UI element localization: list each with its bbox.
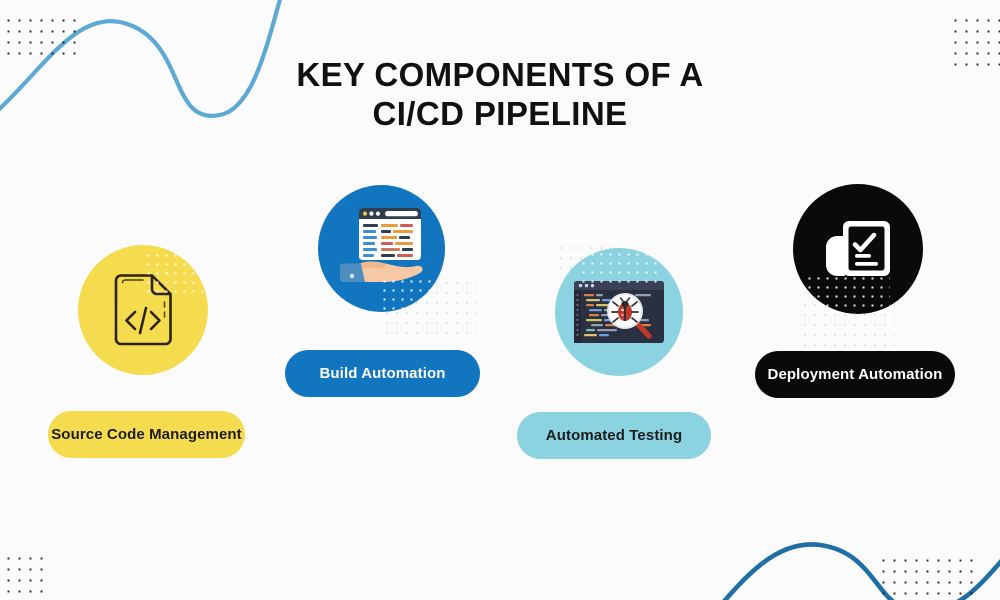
build-automation-pill[interactable]: Build Automation xyxy=(285,350,480,397)
page-title-line-2: CI/CD PIPELINE xyxy=(0,94,1000,133)
source-code-management-circle[interactable] xyxy=(78,245,208,375)
circle-dot-texture xyxy=(380,277,445,312)
circle-dot-texture xyxy=(579,250,659,288)
infographic-canvas: KEY COMPONENTS OF A CI/CD PIPELINE Sourc… xyxy=(0,0,1000,600)
deployment-automation-pill[interactable]: Deployment Automation xyxy=(755,351,955,398)
source-code-management-pill[interactable]: Source Code Management xyxy=(48,411,245,458)
dot-grid-top-left xyxy=(3,15,81,60)
dot-grid-bottom-left xyxy=(3,553,48,598)
deployment-automation-circle[interactable] xyxy=(793,184,923,314)
build-automation-label: Build Automation xyxy=(319,365,445,382)
circle-dot-texture xyxy=(144,251,208,293)
bug-magnifier-code-editor-icon xyxy=(573,280,665,344)
circle-dot-texture xyxy=(805,274,890,314)
page-title-line-1: KEY COMPONENTS OF A xyxy=(0,55,1000,94)
automated-testing-pill[interactable]: Automated Testing xyxy=(517,412,711,459)
page-title: KEY COMPONENTS OF A CI/CD PIPELINE xyxy=(0,55,1000,133)
checklist-clipboard-icon xyxy=(824,219,892,279)
dot-grid-bottom-right xyxy=(878,555,978,600)
automated-testing-label: Automated Testing xyxy=(546,427,682,444)
build-automation-circle[interactable] xyxy=(318,185,445,312)
automated-testing-circle[interactable] xyxy=(555,248,683,376)
deployment-automation-label: Deployment Automation xyxy=(768,366,943,383)
source-code-management-label: Source Code Management xyxy=(51,426,242,443)
